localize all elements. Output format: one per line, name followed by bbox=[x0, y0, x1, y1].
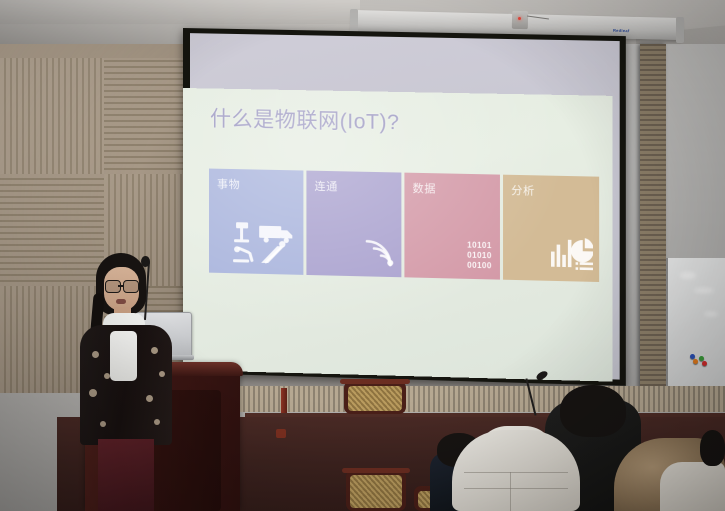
presenter-mouth bbox=[116, 299, 126, 304]
chair-front-1 bbox=[346, 470, 406, 511]
audience-attendee-right bbox=[660, 462, 725, 511]
eyeglasses-right-lens bbox=[123, 280, 139, 293]
slide-panel-data: 数据 10101 01010 00100 bbox=[404, 173, 500, 280]
screen-brand-logo: Redleaf bbox=[613, 28, 630, 33]
whiteboard bbox=[666, 258, 725, 394]
eyeglasses-bridge bbox=[118, 285, 124, 287]
magnet-orange bbox=[693, 359, 698, 364]
delivery-truck-icon bbox=[259, 226, 292, 243]
pie-chart-icon bbox=[571, 238, 593, 263]
legend-lines-icon bbox=[576, 262, 593, 270]
chair-back-1 bbox=[344, 381, 406, 414]
binary-line: 00100 bbox=[467, 261, 492, 272]
audience-head-center bbox=[560, 385, 626, 437]
wifi-signal-icon bbox=[361, 234, 395, 267]
panel-icon-group bbox=[550, 236, 593, 276]
binary-digits-group: 10101 01010 00100 bbox=[467, 240, 492, 271]
slide-title: 什么是物联网(IoT)? bbox=[210, 103, 399, 137]
ceiling-beam-left bbox=[0, 0, 360, 24]
panel-icon-group bbox=[361, 234, 395, 272]
slide-panel-analytics: 分析 bbox=[503, 175, 599, 282]
roller-cap-right bbox=[676, 17, 684, 43]
chair-rail-2 bbox=[342, 468, 410, 473]
chair-rail-1 bbox=[340, 379, 410, 384]
panel-label: 事物 bbox=[217, 176, 240, 193]
panel-label: 数据 bbox=[413, 180, 437, 197]
audience-head-right bbox=[700, 430, 725, 466]
panel-label: 连通 bbox=[314, 178, 337, 195]
presenter-shirt bbox=[110, 331, 137, 381]
escalator-icon bbox=[261, 241, 285, 264]
lecture-hall-photo: Redleaf 什么是物联网(IoT)? 事物 bbox=[0, 0, 725, 511]
stage-object bbox=[276, 429, 286, 438]
slide-panel-things: 事物 bbox=[209, 169, 303, 275]
sensor-post-icon bbox=[234, 222, 249, 242]
wood-column bbox=[640, 44, 666, 394]
ir-receiver-box bbox=[512, 11, 528, 29]
presenter-skirt bbox=[98, 439, 154, 511]
slide-panel-connectivity: 连通 bbox=[306, 171, 401, 278]
magnet-red bbox=[702, 361, 707, 366]
presenter bbox=[72, 253, 188, 511]
panel-label: 分析 bbox=[511, 182, 535, 199]
binary-line: 10101 bbox=[467, 240, 492, 251]
ir-led-indicator bbox=[518, 17, 521, 20]
bar-chart-icon bbox=[551, 239, 571, 267]
projected-slide: 什么是物联网(IoT)? 事物 bbox=[183, 88, 612, 382]
audience-white-vest bbox=[452, 430, 580, 511]
robot-arm-icon bbox=[233, 246, 254, 263]
panel-icon-group bbox=[231, 221, 297, 270]
binary-line: 01010 bbox=[467, 251, 492, 262]
slide-panel-row: 事物 bbox=[209, 169, 599, 282]
